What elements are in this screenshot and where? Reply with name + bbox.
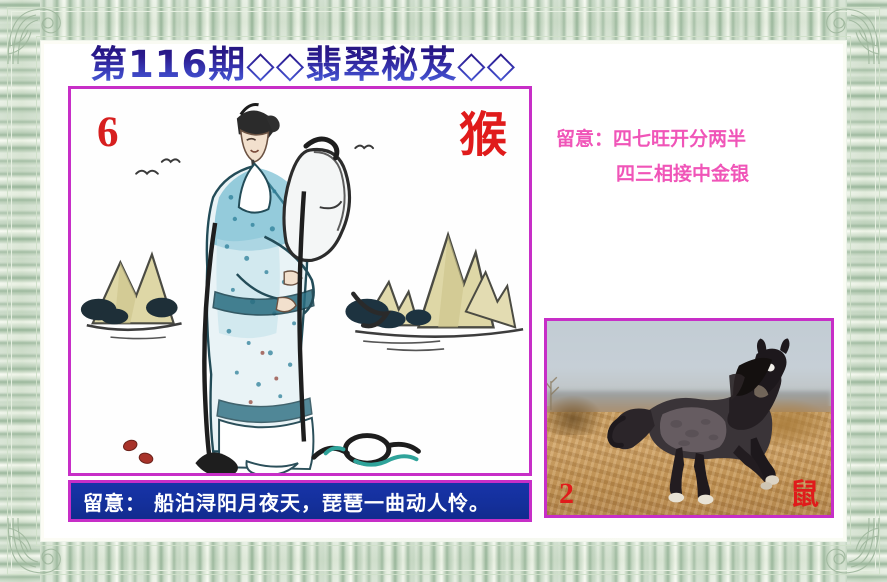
photo-zodiac: 鼠: [790, 480, 819, 509]
photo-number: 2: [559, 479, 574, 509]
content-area: 第116期◇◇翡翠秘芨◇◇: [44, 44, 843, 538]
main-zodiac: 猴: [459, 111, 507, 159]
page-title: 第116期◇◇翡翠秘芨◇◇: [90, 34, 516, 88]
hint-banner: 留意： 船泊浔阳月夜天，琵琶一曲动人怜。: [68, 480, 532, 522]
lottery-poster: 第116期◇◇翡翠秘芨◇◇: [0, 0, 887, 582]
hint-banner-text: 留意： 船泊浔阳月夜天，琵琶一曲动人怜。: [71, 487, 490, 516]
frame-band-right: [847, 0, 887, 582]
side-note: 留意：四七旺开分两半 四三相接中金银: [556, 122, 836, 192]
main-picture-panel: 6 猴: [68, 86, 532, 476]
frame-band-bottom: [0, 542, 887, 582]
frame-band-left: [0, 0, 40, 582]
main-number: 6: [97, 111, 119, 154]
running-horse-photo: [547, 321, 831, 515]
side-note-line2: 四三相接中金银: [556, 157, 836, 192]
side-note-line1: 留意：四七旺开分两半: [556, 128, 746, 150]
photo-panel: 2 鼠: [544, 318, 834, 518]
